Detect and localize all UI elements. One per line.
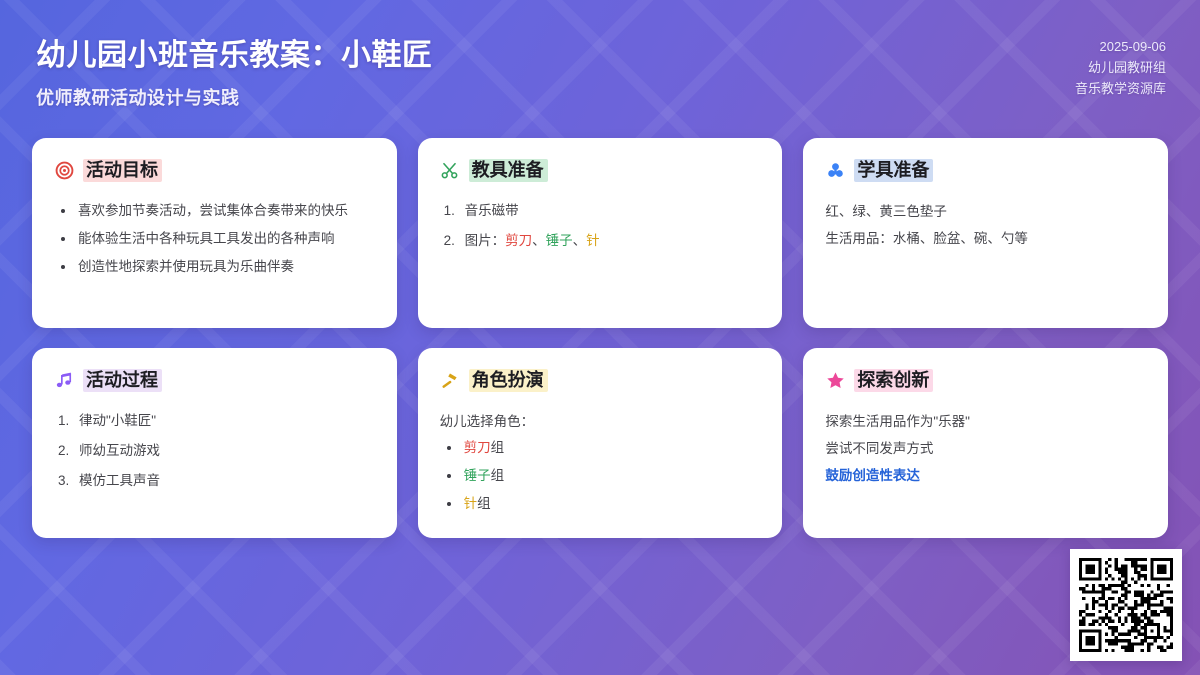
bullet-list: 剪刀组锤子组针组 <box>440 435 761 516</box>
bullet-list: 喜欢参加节奏活动，尝试集体合奏带来的快乐能体验生活中各种玩具工具发出的各种声响创… <box>54 198 375 279</box>
highlighted-word: 剪刀 <box>464 440 491 455</box>
numbered-list: 音乐磁带图片：剪刀、锤子、针 <box>440 198 761 253</box>
music-note-icon <box>54 370 74 390</box>
card-role-play: 角色扮演幼儿选择角色：剪刀组锤子组针组 <box>418 348 783 538</box>
header-meta: 2025-09-06 幼儿园教研组 音乐教学资源库 <box>1075 36 1166 99</box>
list-item: 图片：剪刀、锤子、针 <box>440 228 761 253</box>
highlighted-word: 锤子 <box>464 468 491 483</box>
card-body: 律动"小鞋匠"师幼互动游戏模仿工具声音 <box>54 408 375 493</box>
card-activity-process: 活动过程律动"小鞋匠"师幼互动游戏模仿工具声音 <box>32 348 397 538</box>
highlighted-word: 剪刀 <box>505 233 532 248</box>
page-subtitle: 优师教研活动设计与实践 <box>36 84 240 110</box>
card-header: 探索创新 <box>825 367 1146 393</box>
card-header: 教具准备 <box>440 157 761 183</box>
scissors-icon <box>440 160 460 180</box>
card-header: 活动目标 <box>54 157 375 183</box>
list-item: 锤子组 <box>440 463 761 488</box>
highlighted-word: 针 <box>464 496 478 511</box>
list-item: 能体验生活中各种玩具工具发出的各种声响 <box>54 226 375 251</box>
target-icon <box>54 160 74 180</box>
meta-org: 幼儿园教研组 <box>1075 57 1166 78</box>
highlighted-word: 锤子 <box>546 233 573 248</box>
item-separator: 、 <box>573 233 587 248</box>
card-grid: 活动目标喜欢参加节奏活动，尝试集体合奏带来的快乐能体验生活中各种玩具工具发出的各… <box>32 138 1168 538</box>
clover-icon <box>825 160 845 180</box>
item-separator: 、 <box>532 233 546 248</box>
numbered-list: 律动"小鞋匠"师幼互动游戏模仿工具声音 <box>54 408 375 493</box>
item-suffix: 组 <box>477 496 491 511</box>
list-item: 喜欢参加节奏活动，尝试集体合奏带来的快乐 <box>54 198 375 223</box>
card-title: 教具准备 <box>469 159 548 182</box>
card-explore-innovate: 探索创新探索生活用品作为"乐器"尝试不同发声方式鼓励创造性表达 <box>803 348 1168 538</box>
list-item: 创造性地探索并使用玩具为乐曲伴奏 <box>54 254 375 279</box>
card-activity-goals: 活动目标喜欢参加节奏活动，尝试集体合奏带来的快乐能体验生活中各种玩具工具发出的各… <box>32 138 397 328</box>
item-suffix: 组 <box>491 468 505 483</box>
card-lead-text: 幼儿选择角色： <box>440 408 761 435</box>
card-body: 幼儿选择角色：剪刀组锤子组针组 <box>440 408 761 516</box>
card-body: 探索生活用品作为"乐器"尝试不同发声方式鼓励创造性表达 <box>825 408 1146 489</box>
card-body: 红、绿、黄三色垫子生活用品：水桶、脸盆、碗、勺等 <box>825 198 1146 252</box>
list-item: 剪刀组 <box>440 435 761 460</box>
card-header: 角色扮演 <box>440 367 761 393</box>
body-line: 红、绿、黄三色垫子 <box>825 198 1146 225</box>
card-title: 学具准备 <box>854 159 933 182</box>
card-title: 角色扮演 <box>469 369 548 392</box>
list-item: 律动"小鞋匠" <box>54 408 375 433</box>
body-line: 生活用品：水桶、脸盆、碗、勺等 <box>825 225 1146 252</box>
qr-code <box>1079 558 1173 652</box>
emphasis-link[interactable]: 鼓励创造性表达 <box>825 462 1146 489</box>
card-title: 探索创新 <box>854 369 933 392</box>
page-title: 幼儿园小班音乐教案：小鞋匠 <box>36 30 433 74</box>
hammer-icon <box>440 370 460 390</box>
card-body: 喜欢参加节奏活动，尝试集体合奏带来的快乐能体验生活中各种玩具工具发出的各种声响创… <box>54 198 375 279</box>
card-title: 活动过程 <box>83 369 162 392</box>
card-header: 学具准备 <box>825 157 1146 183</box>
list-item: 音乐磁带 <box>440 198 761 223</box>
list-item: 针组 <box>440 491 761 516</box>
qr-code-container <box>1070 549 1182 661</box>
card-header: 活动过程 <box>54 367 375 393</box>
item-prefix: 图片： <box>465 233 506 248</box>
slide-header: 幼儿园小班音乐教案：小鞋匠 优师教研活动设计与实践 2025-09-06 幼儿园… <box>0 0 1200 126</box>
body-line: 尝试不同发声方式 <box>825 435 1146 462</box>
card-title: 活动目标 <box>83 159 162 182</box>
meta-library: 音乐教学资源库 <box>1075 78 1166 99</box>
item-suffix: 组 <box>491 440 505 455</box>
list-item: 师幼互动游戏 <box>54 438 375 463</box>
meta-date: 2025-09-06 <box>1075 36 1166 57</box>
highlighted-word: 针 <box>586 233 600 248</box>
list-item: 模仿工具声音 <box>54 468 375 493</box>
slide-root: 幼儿园小班音乐教案：小鞋匠 优师教研活动设计与实践 2025-09-06 幼儿园… <box>0 0 1200 675</box>
card-teaching-aids: 教具准备音乐磁带图片：剪刀、锤子、针 <box>418 138 783 328</box>
card-body: 音乐磁带图片：剪刀、锤子、针 <box>440 198 761 253</box>
body-line: 探索生活用品作为"乐器" <box>825 408 1146 435</box>
star-icon <box>825 370 845 390</box>
card-student-materials: 学具准备红、绿、黄三色垫子生活用品：水桶、脸盆、碗、勺等 <box>803 138 1168 328</box>
